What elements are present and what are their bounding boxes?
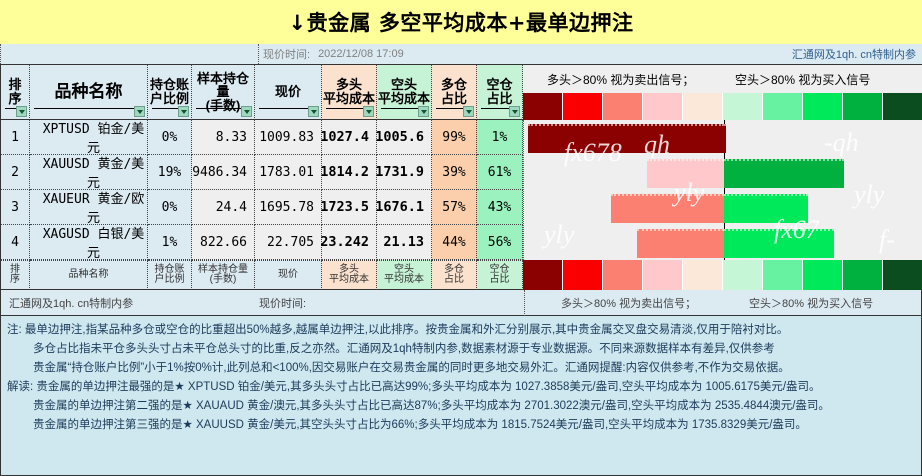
- footer-column-header-1: 品种名称: [30, 260, 148, 290]
- chart-bar-long: [647, 159, 724, 188]
- footer-header-line2: 户比例: [155, 275, 185, 286]
- cell-rank: 4: [0, 225, 30, 260]
- legend-swatch-1: [563, 260, 603, 290]
- info-buy-signal: 空头＞80% 视为买入信号: [749, 290, 873, 316]
- footer-column-header-0: 排序: [0, 260, 30, 290]
- chevron-down-icon[interactable]: [509, 106, 520, 117]
- cell-name: XAUUSD 黄金/美元: [30, 155, 148, 190]
- chevron-down-icon[interactable]: [463, 106, 474, 117]
- chevron-down-icon[interactable]: [363, 106, 374, 117]
- chart-row: [524, 190, 922, 225]
- footer-column-header-6: 空头平均成本: [377, 260, 432, 290]
- cell-long_pct: 39%: [432, 155, 477, 190]
- column-header-8[interactable]: 空仓占比: [477, 64, 523, 120]
- report-page: ↓贵金属 多空平均成本+最单边押注 现价时间: 2022/12/08 17:09…: [0, 0, 922, 476]
- chart-row: [524, 120, 922, 155]
- column-header-4[interactable]: 现价: [255, 64, 322, 120]
- footer-header-line2: 序: [10, 275, 20, 286]
- info-source: 汇通网及1qh. cn特制内参: [9, 290, 133, 316]
- table-header-row: 排序品种名称持仓账户比例样本持仓量(手数)现价多头平均成本空头平均成本多仓占比空…: [0, 64, 922, 120]
- legend-swatch-5: [723, 260, 763, 290]
- footer-header-line2: 平均成本: [329, 275, 369, 286]
- column-header-7[interactable]: 多仓占比: [432, 64, 477, 120]
- column-header-line1: 现价: [275, 85, 301, 99]
- cell-acct: 0%: [148, 120, 192, 155]
- footer-header-line2: 占比: [490, 275, 510, 286]
- cell-lots: 9486.34: [192, 155, 255, 190]
- cell-short_cost: 21.13: [377, 225, 432, 260]
- notes-section: 注: 最单边押注,指某品种多仓或空仓的比重超出50%越多,越属单边押注,以此排序…: [0, 316, 922, 476]
- cell-price: 1009.83: [255, 120, 322, 155]
- column-header-line1: 排: [8, 78, 21, 92]
- price-time-value: 2022/12/08 17:09: [318, 48, 404, 60]
- note-line: 多仓占比指未平仓多头头寸占未平仓总头寸的比重,反之亦然。汇通网及1qh特制内参,…: [7, 340, 915, 359]
- cell-short_cost: 1676.1: [377, 190, 432, 225]
- legend-swatch-6: [763, 260, 803, 290]
- chart-bar-long: [611, 194, 724, 223]
- column-header-line2: 序: [8, 92, 21, 106]
- cell-rank: 3: [0, 190, 30, 225]
- title-bar: ↓贵金属 多空平均成本+最单边押注: [0, 0, 922, 45]
- column-header-line1: 空仓: [486, 78, 512, 92]
- footer-column-header-7: 多仓占比: [432, 260, 477, 290]
- column-header-line1: 持仓账: [150, 78, 189, 92]
- column-header-5[interactable]: 多头平均成本: [322, 64, 377, 120]
- chart-bar-short: [724, 194, 808, 223]
- note-line: 贵金属“持仓账户比例”小于1%按0%计,此列总和<100%,因交易账户在交易贵金…: [7, 359, 915, 378]
- reading-line: 贵金属的单边押注第三强的是★ XAUUSD 黄金/美元,其空头头寸占比为66%;…: [7, 416, 915, 435]
- chevron-down-icon[interactable]: [241, 106, 252, 117]
- cell-acct: 0%: [148, 190, 192, 225]
- footer-column-header-8: 空仓占比: [477, 260, 523, 290]
- cell-price: 1695.78: [255, 190, 322, 225]
- cell-long_cost: 1723.5: [322, 190, 377, 225]
- cell-price: 1783.01: [255, 155, 322, 190]
- column-header-line2: 平均成本: [323, 92, 375, 106]
- cell-name: XPTUSD 铂金/美元: [30, 120, 148, 155]
- cell-lots: 8.33: [192, 120, 255, 155]
- chevron-down-icon[interactable]: [178, 106, 189, 117]
- footer-header-line2: 平均成本: [384, 275, 424, 286]
- footer-column-header-4: 现价: [255, 260, 322, 290]
- info-sell-signal: 多头＞80% 视为卖出信号；: [561, 290, 696, 316]
- chevron-down-icon[interactable]: [418, 106, 429, 117]
- cell-lots: 24.4: [192, 190, 255, 225]
- column-header-0[interactable]: 排序: [0, 64, 30, 120]
- info-bar: 汇通网及1qh. cn特制内参 现价时间: 多头＞80% 视为卖出信号； 空头＞…: [0, 290, 922, 316]
- column-header-2[interactable]: 持仓账户比例: [148, 64, 192, 120]
- cell-long_pct: 99%: [432, 120, 477, 155]
- cell-price: 22.705: [255, 225, 322, 260]
- cell-short_pct: 1%: [477, 120, 523, 155]
- reading-text: 贵金属的单边押注第二强的是★ XAUAUD 黄金/澳元,其多头头寸占比已高达87…: [33, 400, 830, 412]
- price-time-label: 现价时间:: [263, 46, 310, 62]
- footer-column-header-2: 持仓账户比例: [148, 260, 192, 290]
- chart-bar-short: [724, 159, 844, 188]
- time-strip-divider: [0, 44, 1, 64]
- note-line: 注: 最单边押注,指某品种多仓或空仓的比重超出50%越多,越属单边押注,以此排序…: [7, 321, 915, 340]
- legend-swatch-4: [683, 260, 723, 290]
- footer-column-header-3: 样本持仓量(手数): [192, 260, 255, 290]
- color-scale-legend-bottom: [523, 260, 922, 291]
- footer-header-line1: 现价: [278, 270, 298, 281]
- divergent-bar-chart: fx678yly-qhfx67ylyylyqhf-: [523, 120, 922, 260]
- cell-short_pct: 43%: [477, 190, 523, 225]
- cell-short_cost: 1731.9: [377, 155, 432, 190]
- header-underline: [34, 108, 143, 109]
- legend-swatch-7: [803, 260, 843, 290]
- footer-header-line2: (手数): [210, 275, 237, 286]
- legend-swatch-0: [523, 260, 563, 290]
- cell-rank: 2: [0, 155, 30, 190]
- column-header-line1: 品种名称: [55, 83, 123, 101]
- column-header-line1: 多头: [336, 78, 362, 92]
- cell-short_pct: 61%: [477, 155, 523, 190]
- cell-lots: 822.66: [192, 225, 255, 260]
- reading-text: 贵金属的单边押注最强的是★ XPTUSD 铂金/美元,其多头头寸占比已高达99%…: [36, 381, 820, 393]
- chevron-down-icon[interactable]: [308, 106, 319, 117]
- cell-long_pct: 57%: [432, 190, 477, 225]
- chart-row: [524, 225, 922, 260]
- reading-line: 解读: 贵金属的单边押注最强的是★ XPTUSD 铂金/美元,其多头头寸占比已高…: [7, 378, 915, 397]
- price-time: 现价时间: 2022/12/08 17:09: [258, 44, 404, 64]
- cell-short_cost: 1005.6: [377, 120, 432, 155]
- cell-name: XAGUSD 白银/美元: [30, 225, 148, 260]
- cell-long_cost: 1814.2: [322, 155, 377, 190]
- column-header-line1: 多仓: [441, 78, 467, 92]
- legend-swatch-8: [843, 260, 883, 290]
- column-header-line1: 样本持仓量: [192, 72, 254, 99]
- chart-bar-long: [528, 124, 724, 153]
- reading-line: 贵金属的单边押注第二强的是★ XAUAUD 黄金/澳元,其多头头寸占比已高达87…: [7, 397, 915, 416]
- reading-text: 贵金属的单边押注第三强的是★ XAUUSD 黄金/美元,其空头头寸占比为66%;…: [33, 419, 807, 431]
- legend-swatch-9: [883, 260, 922, 290]
- column-header-1[interactable]: 品种名称: [30, 64, 148, 120]
- cell-name: XAUEUR 黄金/欧元: [30, 190, 148, 225]
- table-footer-header-row: 排序品种名称持仓账户比例样本持仓量(手数)现价多头平均成本空头平均成本多仓占比空…: [0, 260, 922, 290]
- legend-swatch-3: [643, 260, 683, 290]
- column-header-line2: 平均成本: [378, 92, 430, 106]
- time-strip: 现价时间: 2022/12/08 17:09 汇通网及1qh. cn特制内参: [0, 44, 922, 65]
- column-header-line2: 占比: [486, 92, 512, 106]
- column-header-line1: 空头: [391, 78, 417, 92]
- reading-label: 解读:: [7, 381, 36, 393]
- footer-column-header-5: 多头平均成本: [322, 260, 377, 290]
- chart-bar-long: [637, 229, 724, 258]
- chart-bar-short: [724, 229, 834, 258]
- column-header-line2: 占比: [441, 92, 467, 106]
- cell-long_pct: 44%: [432, 225, 477, 260]
- cell-acct: 19%: [148, 155, 192, 190]
- cell-long_cost: 1027.4: [322, 120, 377, 155]
- chart-bar-short: [724, 124, 726, 153]
- cell-long_cost: 23.242: [322, 225, 377, 260]
- cell-rank: 1: [0, 120, 30, 155]
- legend-swatch-2: [603, 260, 643, 290]
- column-header-6[interactable]: 空头平均成本: [377, 64, 432, 120]
- source-note-top: 汇通网及1qh. cn特制内参: [792, 44, 916, 64]
- chevron-down-icon[interactable]: [134, 106, 145, 117]
- footer-header-line2: 占比: [444, 275, 464, 286]
- footer-header-line1: 品种名称: [69, 270, 109, 281]
- column-header-line2: 户比例: [150, 92, 189, 106]
- cell-short_pct: 56%: [477, 225, 523, 260]
- column-header-line2: (手数): [206, 99, 241, 113]
- column-header-3[interactable]: 样本持仓量(手数): [192, 64, 255, 120]
- chart-row: [524, 155, 922, 190]
- cell-acct: 1%: [148, 225, 192, 260]
- info-time-label: 现价时间:: [259, 290, 306, 316]
- page-title: ↓贵金属 多空平均成本+最单边押注: [288, 7, 633, 37]
- chevron-down-icon[interactable]: [16, 106, 27, 117]
- info-divider: [524, 290, 531, 316]
